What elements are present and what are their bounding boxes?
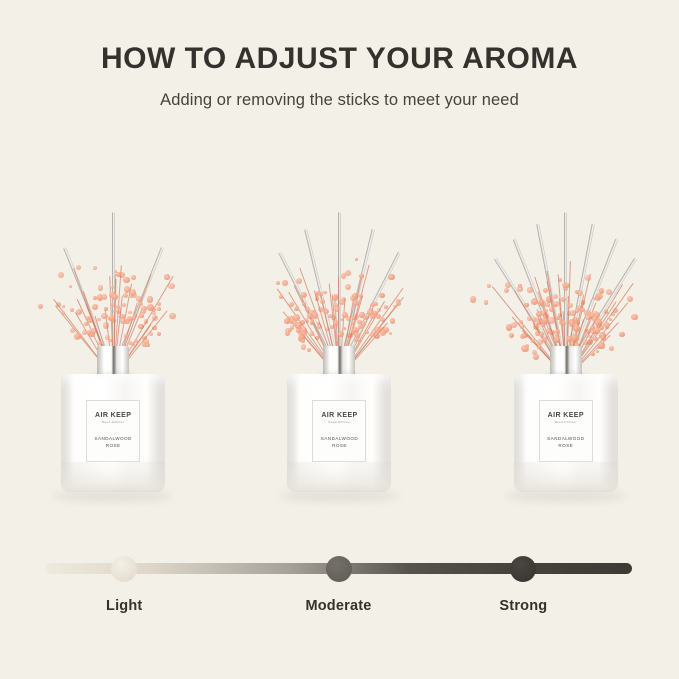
flower-bloom xyxy=(139,314,144,319)
flower-bloom xyxy=(604,322,610,328)
flower-bloom xyxy=(147,304,154,311)
flower-bloom xyxy=(293,314,300,321)
flower-bloom xyxy=(544,309,548,313)
flower-bloom xyxy=(549,306,554,311)
flower-bloom xyxy=(598,294,603,299)
flower-bloom xyxy=(571,334,578,341)
flower-bloom xyxy=(276,281,280,285)
flower-bloom xyxy=(157,332,161,336)
flower-bloom xyxy=(338,331,344,337)
flower-bloom xyxy=(93,296,97,300)
flower-bloom xyxy=(355,258,358,261)
flower-bloom xyxy=(132,316,136,320)
bottle-collar xyxy=(550,346,582,376)
product-strong: AIR KEEPReed DiffuserSANDALWOODROSE xyxy=(466,150,666,520)
flower-bloom xyxy=(61,311,65,315)
flower-bloom xyxy=(74,333,81,340)
flower-bloom xyxy=(123,293,128,298)
brand-tagline: Reed Diffuser xyxy=(328,421,350,424)
flower-bloom xyxy=(86,316,90,320)
flower-bloom xyxy=(509,333,514,338)
flower-bloom xyxy=(296,278,302,284)
bottle-reflection xyxy=(287,462,391,492)
slider-knob-strong[interactable] xyxy=(510,556,536,582)
flower-bloom xyxy=(531,298,538,305)
intensity-slider[interactable] xyxy=(0,556,679,586)
flower-bloom xyxy=(84,322,88,326)
flower-bloom xyxy=(599,288,604,293)
bottle-label: AIR KEEPReed DiffuserSANDALWOODROSE xyxy=(539,400,593,462)
flower-bloom xyxy=(374,327,380,333)
flower-bloom xyxy=(345,284,351,290)
flower-bloom xyxy=(561,321,567,327)
flower-bloom xyxy=(98,285,104,291)
flower-bloom xyxy=(548,317,555,324)
flower-bloom xyxy=(340,318,343,321)
flower-bloom xyxy=(287,316,291,320)
brand-tagline: Reed Diffuser xyxy=(555,421,577,424)
flower-bloom xyxy=(351,321,355,325)
flower-bloom xyxy=(543,288,548,293)
product-light: AIR KEEPReed DiffuserSANDALWOODROSE xyxy=(13,150,213,520)
brand-name: AIR KEEP xyxy=(548,412,584,419)
flower-bloom xyxy=(76,309,82,315)
flower-bloom xyxy=(354,332,360,338)
flower-bloom xyxy=(504,288,509,293)
flower-bloom xyxy=(301,292,307,298)
flower-bloom xyxy=(627,296,633,302)
flower-bloom xyxy=(390,318,396,324)
flower-bloom xyxy=(169,313,175,319)
slider-knob-moderate[interactable] xyxy=(326,556,352,582)
flower-bloom xyxy=(130,289,137,296)
infographic-canvas: HOW TO ADJUST YOUR AROMA Adding or remov… xyxy=(0,0,679,679)
flower-bloom xyxy=(119,307,123,311)
slider-label-strong: Strong xyxy=(499,598,547,614)
bottle-ground-shadow xyxy=(53,490,173,502)
flower-bloom xyxy=(542,337,547,342)
flower-bloom xyxy=(38,304,43,309)
flower-bloom xyxy=(484,300,488,304)
flower-bloom xyxy=(361,321,366,326)
flower-bloom xyxy=(553,294,558,299)
flower-bloom xyxy=(92,304,98,310)
flower-bloom xyxy=(532,317,537,322)
flower-bloom xyxy=(511,322,517,328)
flower-bloom xyxy=(341,273,347,279)
flower-bloom xyxy=(301,339,305,343)
flower-bloom xyxy=(470,296,476,302)
flower-bloom xyxy=(380,330,386,336)
bottle-collar xyxy=(97,346,129,376)
flower-bloom xyxy=(128,311,132,315)
flower-bloom xyxy=(116,272,121,277)
slider-labels: LightModerateStrong xyxy=(0,598,679,622)
flower-bloom xyxy=(323,291,327,295)
flower-bloom xyxy=(288,328,292,332)
flower-bloom xyxy=(147,296,154,303)
brand-tagline: Reed Diffuser xyxy=(102,421,124,424)
flower-bloom xyxy=(606,289,612,295)
flower-bloom xyxy=(633,315,638,320)
flower-bloom xyxy=(363,316,367,320)
flower-bloom xyxy=(311,319,314,322)
flower-bloom xyxy=(123,277,130,284)
flower-bloom xyxy=(87,330,91,334)
flower-bloom xyxy=(393,305,396,308)
page-subtitle: Adding or removing the sticks to meet yo… xyxy=(0,91,679,110)
flower-bloom xyxy=(517,286,523,292)
flower-bloom xyxy=(93,266,97,270)
bottle-collar xyxy=(323,346,355,376)
bottle-label: AIR KEEPReed DiffuserSANDALWOODROSE xyxy=(312,400,366,462)
flower-bloom xyxy=(112,294,118,300)
flower-bloom xyxy=(164,274,169,279)
flower-bloom xyxy=(76,265,81,270)
bottle-label: AIR KEEPReed DiffuserSANDALWOODROSE xyxy=(86,400,140,462)
flower-bloom xyxy=(354,338,358,342)
flower-bloom xyxy=(553,301,559,307)
flower-bloom xyxy=(567,303,573,309)
flower-bloom xyxy=(157,307,160,310)
flower-bloom xyxy=(318,292,323,297)
flower-bloom xyxy=(282,280,288,286)
product-moderate: AIR KEEPReed DiffuserSANDALWOODROSE xyxy=(239,150,439,520)
flower-bloom xyxy=(373,302,377,306)
flower-bloom xyxy=(97,318,101,322)
flower-bloom xyxy=(554,336,560,342)
flower-bloom xyxy=(595,319,602,326)
scent-name: SANDALWOODROSE xyxy=(321,436,358,450)
page-title: HOW TO ADJUST YOUR AROMA xyxy=(0,42,679,75)
flower-bloom xyxy=(365,331,368,334)
flower-bloom xyxy=(556,316,560,320)
flower-bloom xyxy=(388,274,394,280)
brand-name: AIR KEEP xyxy=(321,412,357,419)
product-row: AIR KEEPReed DiffuserSANDALWOODROSEAIR K… xyxy=(0,150,679,520)
flower-bloom xyxy=(122,303,126,307)
flower-bloom xyxy=(594,337,597,340)
flower-bloom xyxy=(524,303,528,307)
slider-label-light: Light xyxy=(106,598,142,614)
flower-bloom xyxy=(527,316,532,321)
flower-bloom xyxy=(105,335,110,340)
flower-bloom xyxy=(585,275,591,281)
flower-bloom xyxy=(131,275,136,280)
flower-bloom xyxy=(587,329,591,333)
flower-bloom xyxy=(389,332,392,335)
scent-name: SANDALWOODROSE xyxy=(94,436,131,450)
flower-bloom xyxy=(619,332,625,338)
bottle-ground-shadow xyxy=(279,490,399,502)
flower-bloom xyxy=(379,293,384,298)
slider-track[interactable] xyxy=(45,563,632,574)
flower-bloom xyxy=(580,308,585,313)
flower-bloom xyxy=(109,315,115,321)
flower-bloom xyxy=(157,302,161,306)
flower-bloom xyxy=(539,332,544,337)
flower-bloom xyxy=(124,334,129,339)
slider-knob-light[interactable] xyxy=(111,556,137,582)
flower-bloom xyxy=(487,284,491,288)
flower-bloom xyxy=(545,303,550,308)
diffuser-bottle: AIR KEEPReed DiffuserSANDALWOODROSE xyxy=(514,346,618,492)
brand-name: AIR KEEP xyxy=(95,412,131,419)
flower-bloom xyxy=(334,306,340,312)
flower-bloom xyxy=(377,308,381,312)
flower-bloom xyxy=(302,302,306,306)
bottle-reflection xyxy=(61,462,165,492)
bottle-ground-shadow xyxy=(506,490,626,502)
flower-bloom xyxy=(58,272,64,278)
flower-bloom xyxy=(168,283,174,289)
flower-bloom xyxy=(527,287,532,292)
flower-bloom xyxy=(353,300,359,306)
diffuser-bottle: AIR KEEPReed DiffuserSANDALWOODROSE xyxy=(61,346,165,492)
diffuser-bottle: AIR KEEPReed DiffuserSANDALWOODROSE xyxy=(287,346,391,492)
flower-bloom xyxy=(70,308,74,312)
flower-bloom xyxy=(62,305,65,308)
flower-bloom xyxy=(345,270,351,276)
header: HOW TO ADJUST YOUR AROMA Adding or remov… xyxy=(0,42,679,110)
bottle-reflection xyxy=(514,462,618,492)
scent-name: SANDALWOODROSE xyxy=(547,436,584,450)
flower-bloom xyxy=(127,316,132,321)
flower-bloom xyxy=(69,285,73,289)
flower-bloom xyxy=(98,341,102,345)
flower-bloom xyxy=(342,327,345,330)
flower-bloom xyxy=(104,307,107,310)
flower-bloom xyxy=(102,294,107,299)
slider-label-moderate: Moderate xyxy=(305,598,371,614)
